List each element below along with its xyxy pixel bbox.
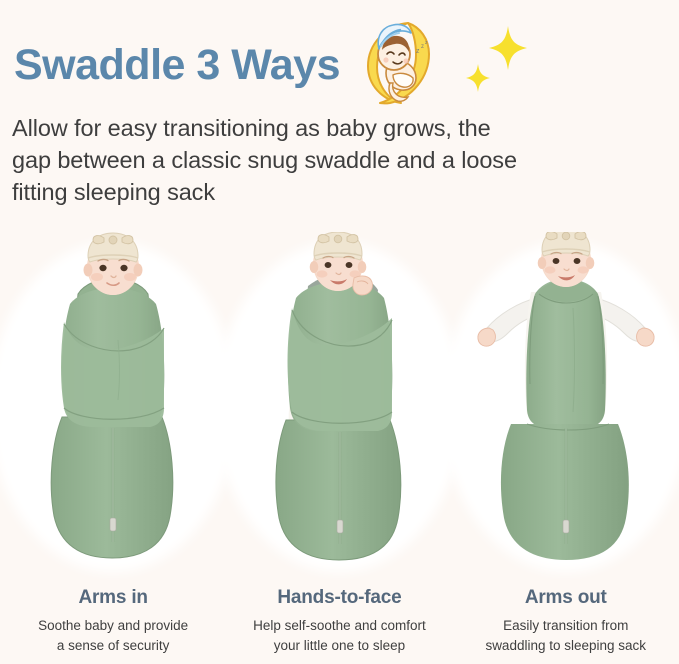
product-panel-arms-out[interactable] bbox=[453, 232, 679, 582]
sleeping-baby-moon-icon: z z z bbox=[346, 17, 442, 109]
description-line-1: Allow for easy transitioning as baby gro… bbox=[12, 112, 658, 144]
caption-line: Help self-soothe and comfort bbox=[232, 616, 446, 636]
caption-line: a sense of security bbox=[6, 636, 220, 656]
caption-line: Soothe baby and provide bbox=[6, 616, 220, 636]
header-description: Allow for easy transitioning as baby gro… bbox=[12, 112, 658, 208]
svg-text:z: z bbox=[421, 44, 424, 50]
sparkle-stars-icon bbox=[462, 22, 530, 96]
page-title: Swaddle 3 Ways bbox=[14, 44, 340, 87]
product-panel-hands-to-face[interactable] bbox=[226, 232, 452, 582]
title-row: Swaddle 3 Ways bbox=[14, 34, 442, 96]
caption-arms-out: Arms out Easily transition from swaddlin… bbox=[453, 588, 679, 664]
caption-title-hands-to-face: Hands-to-face bbox=[232, 588, 446, 607]
product-photo-row bbox=[0, 232, 679, 582]
caption-body-arms-out: Easily transition from swaddling to slee… bbox=[459, 616, 673, 656]
caption-title-arms-in: Arms in bbox=[6, 588, 220, 607]
caption-line: your little one to sleep bbox=[232, 636, 446, 656]
description-line-2: gap between a classic snug swaddle and a… bbox=[12, 144, 658, 176]
product-photo-arms-in bbox=[0, 232, 226, 582]
svg-text:z: z bbox=[416, 48, 420, 55]
caption-body-arms-in: Soothe baby and provide a sense of secur… bbox=[6, 616, 220, 656]
caption-arms-in: Arms in Soothe baby and provide a sense … bbox=[0, 588, 226, 664]
caption-title-arms-out: Arms out bbox=[459, 588, 673, 607]
caption-line: swaddling to sleeping sack bbox=[459, 636, 673, 656]
header-section: Swaddle 3 Ways bbox=[0, 0, 679, 230]
description-line-3: fitting sleeping sack bbox=[12, 176, 658, 208]
caption-row: Arms in Soothe baby and provide a sense … bbox=[0, 588, 679, 664]
product-photo-arms-out bbox=[453, 232, 679, 582]
caption-line: Easily transition from bbox=[459, 616, 673, 636]
caption-hands-to-face: Hands-to-face Help self-soothe and comfo… bbox=[226, 588, 452, 664]
caption-body-hands-to-face: Help self-soothe and comfort your little… bbox=[232, 616, 446, 656]
product-panel-arms-in[interactable] bbox=[0, 232, 226, 582]
product-photo-hands-to-face bbox=[226, 232, 452, 582]
